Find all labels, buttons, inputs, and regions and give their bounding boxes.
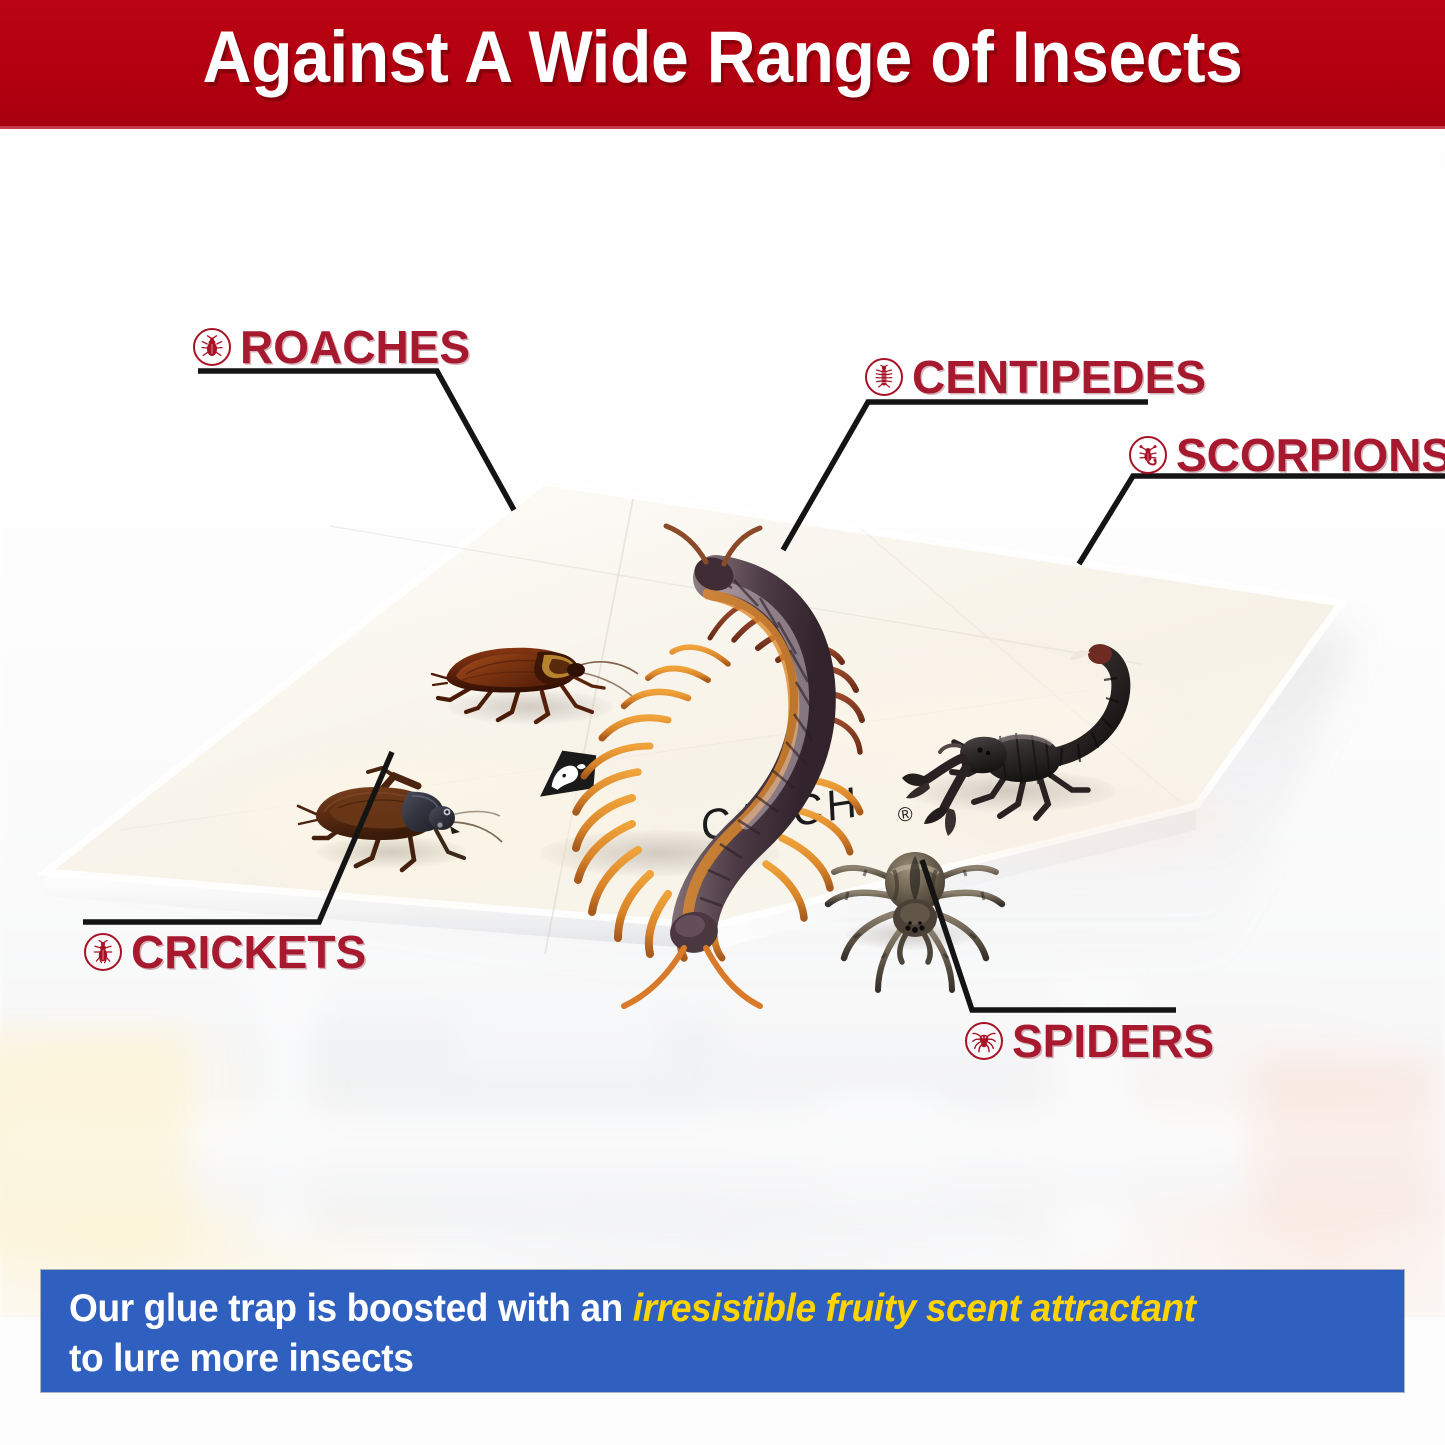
footer-line1-plain: Our glue trap is boosted with an bbox=[69, 1287, 633, 1330]
callout-label: CRICKETS bbox=[131, 925, 366, 979]
callout-spiders[interactable]: SPIDERS bbox=[965, 1014, 1214, 1068]
glue-trap-board: CATCH ® bbox=[0, 130, 1445, 1315]
cricket-specimen bbox=[290, 762, 505, 882]
footer-message: Our glue trap is boosted with an irresis… bbox=[69, 1284, 1333, 1384]
callout-scorpions[interactable]: SCORPIONS bbox=[1129, 428, 1445, 482]
footer-banner: Our glue trap is boosted with an irresis… bbox=[41, 1270, 1404, 1392]
callout-centipedes[interactable]: CENTIPEDES bbox=[865, 350, 1206, 404]
page-title: Against A Wide Range of Insects bbox=[51, 16, 1395, 99]
header-underline bbox=[0, 126, 1445, 129]
roach-icon bbox=[193, 328, 231, 366]
scorpion-icon bbox=[1129, 436, 1167, 474]
callout-label: ROACHES bbox=[240, 320, 470, 374]
spider-icon bbox=[965, 1022, 1003, 1060]
callout-roaches[interactable]: ROACHES bbox=[193, 320, 470, 374]
scorpion-specimen bbox=[900, 640, 1150, 840]
centipede-icon bbox=[865, 358, 903, 396]
callout-label: CENTIPEDES bbox=[912, 350, 1206, 404]
callout-crickets[interactable]: CRICKETS bbox=[84, 925, 366, 979]
footer-line2-plain: to lure more insects bbox=[69, 1337, 413, 1380]
cricket-icon bbox=[84, 933, 122, 971]
footer-highlight: irresistible fruity scent attractant bbox=[633, 1287, 1196, 1330]
spider-specimen bbox=[820, 830, 1010, 995]
callout-label: SCORPIONS bbox=[1176, 428, 1445, 482]
callout-label: SPIDERS bbox=[1012, 1014, 1214, 1068]
infographic-canvas: CATCH ® bbox=[0, 0, 1445, 1445]
